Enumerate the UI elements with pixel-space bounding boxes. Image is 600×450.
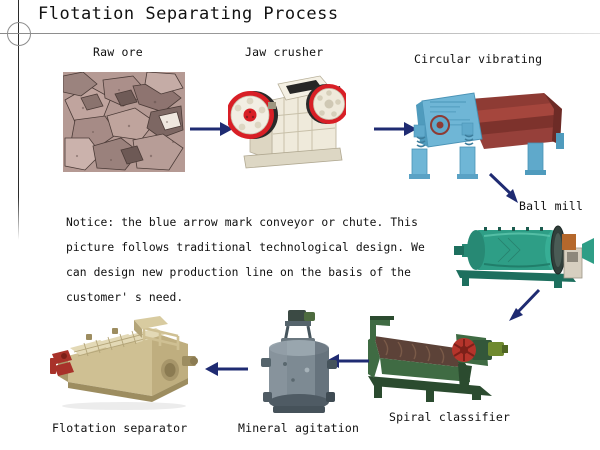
label-circular-vibrating: Circular vibrating <box>414 52 542 66</box>
diagram-canvas: Flotation Separating Process Raw ore Jaw… <box>0 0 600 450</box>
arrow-agitation-to-flotation <box>204 360 248 378</box>
image-mineral-agitation <box>255 308 343 418</box>
image-flotation-separator <box>48 312 200 412</box>
page-title: Flotation Separating Process <box>38 4 339 24</box>
label-jaw-crusher: Jaw crusher <box>245 45 323 59</box>
label-raw-ore: Raw ore <box>93 45 143 59</box>
image-circular-vibrating-screen <box>404 75 570 180</box>
notice-text: Notice: the blue arrow mark conveyor or … <box>66 210 426 310</box>
label-flotation-separator: Flotation separator <box>52 421 187 435</box>
image-spiral-classifier <box>360 310 510 405</box>
decor-circle-icon <box>7 22 31 46</box>
image-jaw-crusher <box>228 60 346 170</box>
label-spiral-classifier: Spiral classifier <box>389 410 510 424</box>
label-ball-mill: Ball mill <box>519 199 583 213</box>
image-ball-mill <box>450 218 595 288</box>
image-raw-ore <box>63 72 185 172</box>
label-mineral-agitation: Mineral agitation <box>238 421 359 435</box>
decor-horizontal-line <box>0 33 600 34</box>
arrow-screen-to-ballmill <box>488 172 526 206</box>
